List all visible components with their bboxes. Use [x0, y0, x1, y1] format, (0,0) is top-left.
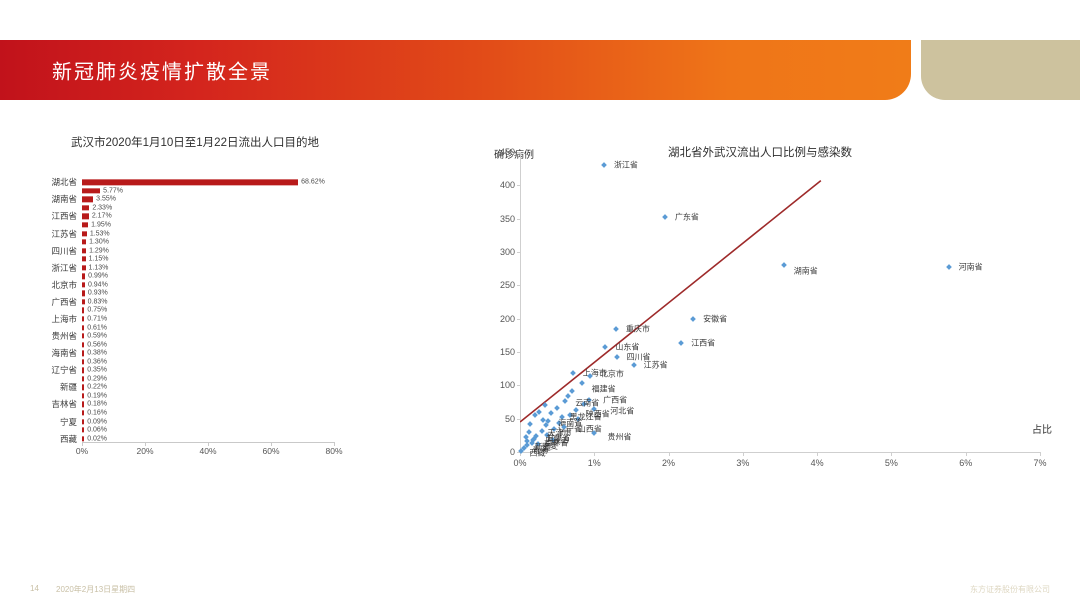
scatter-point-label: 江苏省: [644, 360, 668, 371]
scatter-point-label: 河南省: [959, 261, 983, 272]
page-title: 新冠肺炎疫情扩散全景: [52, 56, 272, 85]
scatter-point: [526, 429, 532, 435]
bar-category-label: 宁夏: [60, 416, 77, 428]
scatter-y-tick-label: 100: [500, 380, 515, 390]
scatter-y-tick-label: 150: [500, 347, 515, 357]
scatter-point: [690, 316, 696, 322]
scatter-x-tick-label: 4%: [811, 458, 824, 468]
scatter-x-tick-label: 5%: [885, 458, 898, 468]
scatter-point-label: 河北省: [610, 405, 634, 416]
scatter-point: [946, 264, 952, 270]
scatter-y-tick-label: 0: [510, 447, 515, 457]
bar-category-label: 江苏省: [51, 228, 77, 240]
scatter-y-tickmark: [517, 285, 520, 286]
scatter-point: [601, 162, 607, 168]
scatter-point-label: 浙江省: [614, 160, 638, 171]
scatter-y-tick-label: 450: [500, 147, 515, 157]
bar-x-tick-label: 0%: [76, 446, 88, 456]
scatter-point: [548, 410, 554, 416]
scatter-point: [603, 344, 609, 350]
scatter-point: [554, 405, 560, 411]
scatter-point-label: 江西省: [691, 338, 715, 349]
bar-x-tick-label: 40%: [199, 446, 216, 456]
scatter-y-tickmark: [517, 252, 520, 253]
scatter-point: [631, 362, 637, 368]
scatter-y-tick-label: 300: [500, 247, 515, 257]
scatter-point: [613, 326, 619, 332]
scatter-x-tickmark: [891, 452, 892, 456]
bar-x-tick-label: 80%: [325, 446, 342, 456]
scatter-plot-area: 0501001502002503003504004500%1%2%3%4%5%6…: [520, 152, 1040, 452]
scatter-x-tick-label: 0%: [513, 458, 526, 468]
scatter-y-tickmark: [517, 352, 520, 353]
scatter-x-tickmark: [1040, 452, 1041, 456]
bar-chart-axis: [82, 178, 334, 443]
scatter-chart-panel: 湖北省外武汉流出人口比例与感染数 确诊病例 占比 050100150200250…: [470, 130, 1070, 490]
banner-side-block: [921, 40, 1080, 100]
bar-category-label: 西藏: [60, 433, 77, 445]
scatter-x-tick-label: 1%: [588, 458, 601, 468]
scatter-point-label: 广东省: [675, 211, 699, 222]
footer-date: 2020年2月13日星期四: [56, 584, 135, 595]
scatter-point: [662, 214, 668, 220]
scatter-y-tick-label: 250: [500, 280, 515, 290]
footer-page-number: 14: [30, 584, 39, 593]
bar-chart-title: 武汉市2020年1月10日至1月22日流出人口目的地: [60, 136, 330, 151]
scatter-point: [562, 398, 568, 404]
scatter-point: [678, 340, 684, 346]
bar-chart-xticks: 0%20%40%60%80%: [82, 446, 334, 462]
bar-chart-panel: 武汉市2020年1月10日至1月22日流出人口目的地 湖北省68.62%5.77…: [20, 130, 440, 490]
scatter-y-tick-label: 350: [500, 214, 515, 224]
scatter-point-label: 福建省: [592, 384, 616, 395]
scatter-x-tick-label: 3%: [736, 458, 749, 468]
scatter-x-tickmark: [817, 452, 818, 456]
bar-category-label: 湖北省: [51, 176, 77, 188]
scatter-point: [781, 262, 787, 268]
slide-canvas: 新冠肺炎疫情扩散全景 武汉市2020年1月10日至1月22日流出人口目的地 湖北…: [0, 0, 1080, 608]
bar-category-label: 海南省: [51, 347, 77, 359]
scatter-point-label: 湖南省: [794, 266, 818, 277]
scatter-x-tickmark: [966, 452, 967, 456]
scatter-y-tick-label: 50: [505, 414, 515, 424]
scatter-x-tick-label: 6%: [959, 458, 972, 468]
scatter-x-axis: [520, 452, 1040, 453]
bar-category-label: 辽宁省: [51, 364, 77, 376]
scatter-x-tick-label: 7%: [1033, 458, 1046, 468]
bar-category-label: 上海市: [51, 313, 77, 325]
scatter-point-label: 安徽省: [703, 313, 727, 324]
scatter-point-label: 广西省: [603, 395, 627, 406]
scatter-y-tickmark: [517, 219, 520, 220]
scatter-point: [569, 388, 575, 394]
scatter-point: [536, 409, 542, 415]
bar-category-label: 湖南省: [51, 193, 77, 205]
bar-category-label: 江西省: [51, 210, 77, 222]
scatter-point: [579, 380, 585, 386]
footer-watermark: 东方证券股份有限公司: [970, 584, 1050, 595]
scatter-x-tickmark: [669, 452, 670, 456]
scatter-point-label: 西藏: [529, 448, 545, 459]
bar-category-label: 贵州省: [51, 330, 77, 342]
scatter-point: [539, 428, 545, 434]
scatter-point: [570, 370, 576, 376]
bar-x-tick-label: 20%: [136, 446, 153, 456]
scatter-y-tick-label: 400: [500, 180, 515, 190]
scatter-x-tickmark: [594, 452, 595, 456]
bar-category-label: 新疆: [60, 381, 77, 393]
scatter-x-tickmark: [743, 452, 744, 456]
bar-category-label: 吉林省: [51, 398, 77, 410]
scatter-point-label: 贵州省: [608, 432, 632, 443]
scatter-y-tickmark: [517, 319, 520, 320]
scatter-x-tick-label: 2%: [662, 458, 675, 468]
scatter-point-label: 北京市: [600, 369, 624, 380]
bar-category-label: 浙江省: [51, 262, 77, 274]
bar-x-tick-label: 60%: [262, 446, 279, 456]
scatter-y-tick-label: 200: [500, 314, 515, 324]
scatter-y-tickmark: [517, 152, 520, 153]
scatter-y-tickmark: [517, 419, 520, 420]
bar-category-label: 广西省: [51, 296, 77, 308]
scatter-point: [542, 402, 548, 408]
scatter-point: [591, 430, 597, 436]
bar-category-label: 四川省: [51, 245, 77, 257]
scatter-point-label: 重庆市: [626, 323, 650, 334]
scatter-point: [614, 354, 620, 360]
scatter-point: [528, 421, 534, 427]
title-banner: 新冠肺炎疫情扩散全景: [0, 40, 911, 100]
scatter-y-tickmark: [517, 385, 520, 386]
scatter-y-tickmark: [517, 185, 520, 186]
bar-category-label: 北京市: [51, 279, 77, 291]
